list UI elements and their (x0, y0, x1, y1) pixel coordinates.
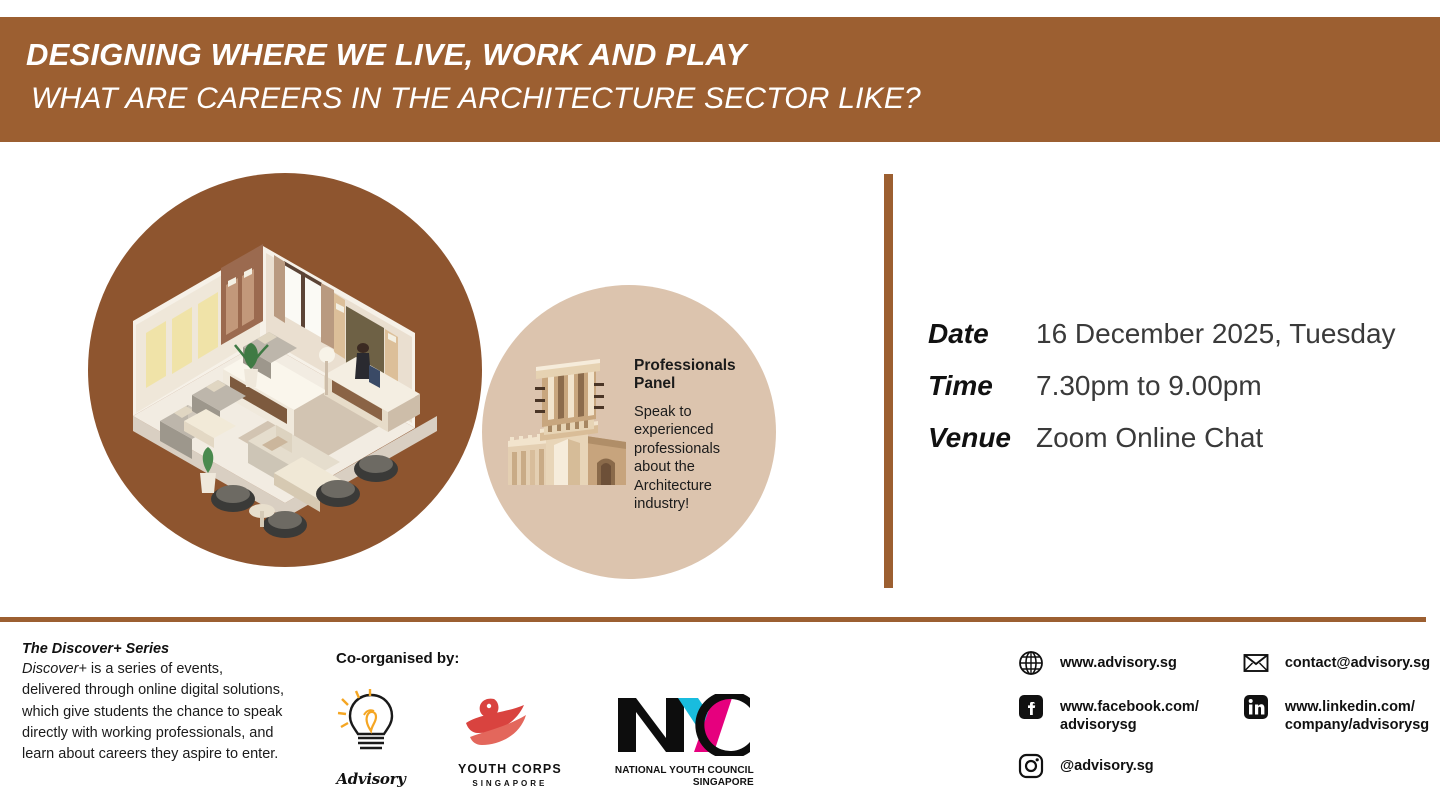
time-value: 7.30pm to 9.00pm (1036, 370, 1262, 402)
contact-linkedin[interactable]: www.linkedin.com/ company/advisorysg (1243, 694, 1430, 735)
coorganised-by-label: Co-organised by: (336, 650, 754, 667)
facebook-icon (1018, 694, 1044, 720)
instagram-text: @advisory.sg (1060, 753, 1154, 775)
linkedin-icon (1243, 694, 1269, 720)
nyc-logo: NATIONAL YOUTH COUNCIL SINGAPORE (614, 694, 754, 788)
youth-corps-wordmark: YOUTH CORPS (458, 762, 562, 776)
date-value: 16 December 2025, Tuesday (1036, 318, 1396, 350)
event-poster: DESIGNING WHERE WE LIVE, WORK AND PLAY W… (0, 0, 1440, 810)
event-details: Date 16 December 2025, Tuesday Time 7.30… (928, 318, 1396, 474)
detail-row-date: Date 16 December 2025, Tuesday (928, 318, 1396, 350)
contact-email[interactable]: contact@advisory.sg (1243, 650, 1430, 676)
time-label: Time (928, 370, 1036, 402)
poster-header: DESIGNING WHERE WE LIVE, WORK AND PLAY W… (0, 17, 1440, 142)
panel-body: Speak to experienced professionals about… (634, 403, 754, 514)
contact-facebook[interactable]: www.facebook.com/ advisorysg (1018, 694, 1199, 735)
email-text: contact@advisory.sg (1285, 650, 1430, 672)
page-title: DESIGNING WHERE WE LIVE, WORK AND PLAY (26, 35, 1440, 75)
blurb-lead: Discover+ (22, 661, 87, 677)
nyc-wordmark-line2: SINGAPORE (614, 777, 754, 788)
panel-text-block: Professionals Panel Speak to experienced… (634, 357, 754, 514)
contact-section: www.advisory.sg www.facebook.com/ adviso… (1018, 650, 1430, 779)
date-label: Date (928, 318, 1036, 350)
website-text: www.advisory.sg (1060, 650, 1177, 672)
youth-corps-mark-icon (458, 693, 542, 751)
venue-value: Zoom Online Chat (1036, 422, 1263, 454)
contact-column-left: www.advisory.sg www.facebook.com/ adviso… (1018, 650, 1199, 779)
nyc-mark-icon (614, 694, 754, 756)
contact-column-right: contact@advisory.sg www.linkedin.com/ co… (1243, 650, 1430, 779)
youth-corps-sub: SINGAPORE (458, 779, 562, 788)
nyc-wordmark-line1: NATIONAL YOUTH COUNCIL (614, 765, 754, 776)
professionals-panel-circle: Professionals Panel Speak to experienced… (482, 285, 776, 579)
globe-icon (1018, 650, 1044, 676)
vertical-accent-bar (884, 174, 893, 588)
contact-website[interactable]: www.advisory.sg (1018, 650, 1199, 676)
lightbulb-icon (336, 689, 406, 763)
logo-row: Advisory YOUTH CORPS SINGAPORE (336, 689, 754, 788)
illustration-circle (88, 173, 482, 567)
envelope-icon (1243, 650, 1269, 676)
blurb-body: Discover+ is a series of events, deliver… (22, 659, 284, 766)
coorganisers-section: Co-organised by: Advisory (336, 650, 754, 788)
detail-row-venue: Venue Zoom Online Chat (928, 422, 1396, 454)
youth-corps-logo: YOUTH CORPS SINGAPORE (458, 693, 562, 788)
discover-series-blurb: The Discover+ Series Discover+ is a seri… (22, 641, 284, 766)
detail-row-time: Time 7.30pm to 9.00pm (928, 370, 1396, 402)
venue-label: Venue (928, 422, 1036, 454)
isometric-hotel-lobby-illustration (88, 173, 482, 567)
contact-instagram[interactable]: @advisory.sg (1018, 753, 1199, 779)
page-subtitle: WHAT ARE CAREERS IN THE ARCHITECTURE SEC… (31, 79, 1440, 119)
blurb-title: The Discover+ Series (22, 641, 284, 657)
instagram-icon (1018, 753, 1044, 779)
windtower-building-icon (502, 357, 632, 492)
footer-divider (0, 617, 1426, 622)
advisory-logo: Advisory (336, 689, 406, 788)
facebook-text: www.facebook.com/ advisorysg (1060, 694, 1199, 735)
advisory-wordmark: Advisory (336, 770, 406, 788)
panel-heading: Professionals Panel (634, 357, 754, 394)
linkedin-text: www.linkedin.com/ company/advisorysg (1285, 694, 1429, 735)
